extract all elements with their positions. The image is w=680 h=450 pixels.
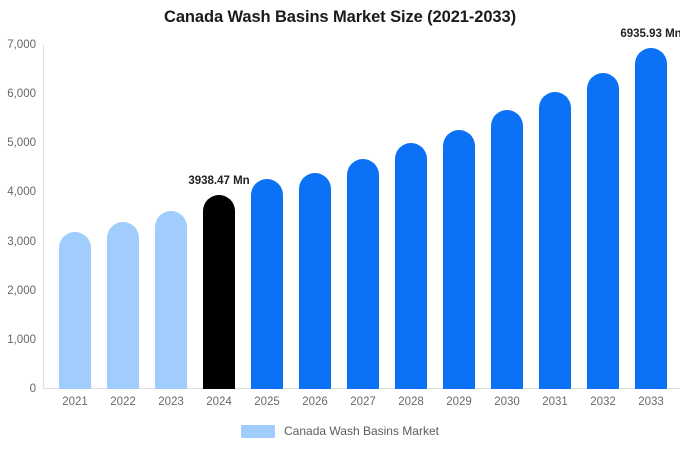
legend-label: Canada Wash Basins Market: [284, 424, 439, 438]
bar-slot: [387, 45, 435, 389]
bar-2024[interactable]: [203, 195, 235, 389]
bar-slot: [531, 45, 579, 389]
bar-2030[interactable]: [491, 110, 523, 389]
bar-2029[interactable]: [443, 130, 475, 389]
y-axis-tick-label: 0: [30, 383, 36, 395]
y-axis-labels: 7,0006,0005,0004,0003,0002,0001,0000: [0, 45, 36, 389]
bar-slot: [579, 45, 627, 389]
bar-2032[interactable]: [587, 73, 619, 389]
bar-2022[interactable]: [107, 222, 139, 389]
bar-value-label-2033: 6935.93 Mn: [620, 28, 680, 40]
y-axis-tick-label: 7,000: [7, 39, 36, 51]
y-axis-tick-label: 2,000: [7, 285, 36, 297]
y-axis-tick-label: 6,000: [7, 88, 36, 100]
x-axis-tick-label-2025: 2025: [243, 396, 291, 408]
bar-series: 3938.47 Mn6935.93 Mn: [43, 45, 680, 389]
chart-legend: Canada Wash Basins Market: [0, 424, 680, 438]
x-axis-tick-label-2028: 2028: [387, 396, 435, 408]
bar-2033[interactable]: [635, 48, 667, 389]
chart-title: Canada Wash Basins Market Size (2021-203…: [0, 8, 680, 27]
plot-area: 3938.47 Mn6935.93 Mn: [43, 45, 680, 389]
x-axis-tick-label-2024: 2024: [195, 396, 243, 408]
bar-slot: [147, 45, 195, 389]
y-axis-tick-label: 4,000: [7, 186, 36, 198]
legend-swatch-icon: [241, 425, 275, 438]
bar-2031[interactable]: [539, 92, 571, 389]
bar-value-label-2024: 3938.47 Mn: [188, 175, 249, 187]
bar-slot: [291, 45, 339, 389]
x-axis-tick-label-2031: 2031: [531, 396, 579, 408]
bar-2026[interactable]: [299, 173, 331, 389]
bar-2028[interactable]: [395, 143, 427, 389]
x-axis-tick-label-2032: 2032: [579, 396, 627, 408]
bar-slot: [99, 45, 147, 389]
bar-2021[interactable]: [59, 232, 91, 389]
x-axis-tick-label-2023: 2023: [147, 396, 195, 408]
x-axis-tick-label-2021: 2021: [51, 396, 99, 408]
bar-slot: [435, 45, 483, 389]
x-axis-tick-label-2033: 2033: [627, 396, 675, 408]
x-axis-tick-label-2030: 2030: [483, 396, 531, 408]
bar-slot: [483, 45, 531, 389]
x-axis-labels: 2021202220232024202520262027202820292030…: [43, 396, 680, 416]
x-axis-tick-label-2029: 2029: [435, 396, 483, 408]
bar-slot: [627, 45, 675, 389]
bar-slot: [51, 45, 99, 389]
y-axis-tick-label: 3,000: [7, 236, 36, 248]
bar-2027[interactable]: [347, 159, 379, 389]
x-axis-tick-label-2026: 2026: [291, 396, 339, 408]
x-axis-tick-label-2022: 2022: [99, 396, 147, 408]
bar-chart: Canada Wash Basins Market Size (2021-203…: [0, 0, 680, 450]
x-axis-tick-label-2027: 2027: [339, 396, 387, 408]
y-axis-tick-label: 1,000: [7, 334, 36, 346]
bar-slot: [339, 45, 387, 389]
y-axis-tick-label: 5,000: [7, 137, 36, 149]
bar-2023[interactable]: [155, 211, 187, 389]
bar-slot: [195, 45, 243, 389]
bar-2025[interactable]: [251, 179, 283, 389]
bar-slot: [243, 45, 291, 389]
